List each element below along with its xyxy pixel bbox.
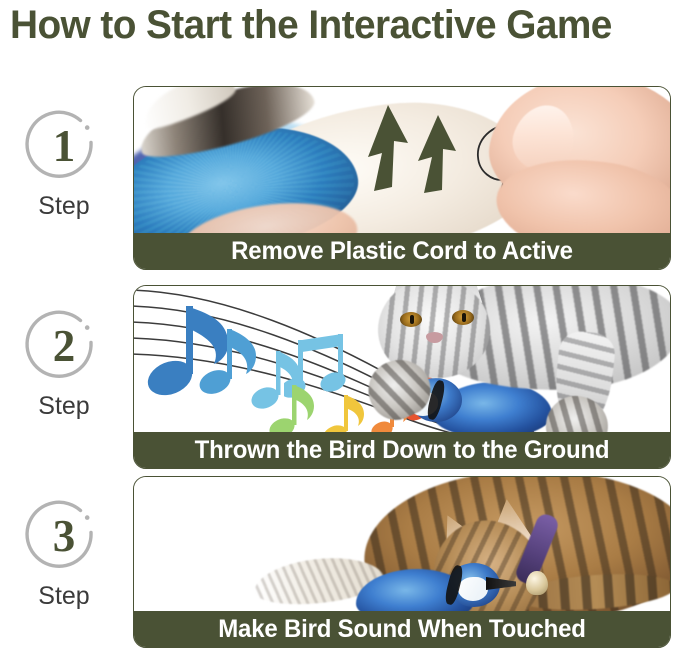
step-image-1: PULL — [134, 87, 670, 233]
cat-eye-right — [452, 310, 474, 325]
step-ring-3: 3 — [25, 498, 103, 576]
step-label-1: Step — [8, 192, 120, 221]
step-number-2: 2 — [25, 308, 103, 386]
step-badge-2: 2 Step — [8, 308, 120, 421]
cat-eye-left — [400, 312, 422, 327]
step-ring-1: 1 — [25, 108, 103, 186]
step-caption-text-1: Remove Plastic Cord to Active — [145, 233, 660, 269]
step-number-1: 1 — [25, 108, 103, 186]
infographic-page: How to Start the Interactive Game 1 Step — [0, 0, 679, 649]
step-number-3: 3 — [25, 498, 103, 576]
step-card-2: Thrown the Bird Down to the Ground — [133, 285, 671, 469]
step-caption-text-2: Thrown the Bird Down to the Ground — [145, 432, 660, 468]
step-ring-2: 2 — [25, 308, 103, 386]
step-image-3 — [134, 477, 670, 611]
jay-beak — [486, 577, 516, 590]
step-label-2: Step — [8, 392, 120, 421]
silver-tabby-cat — [360, 286, 670, 432]
step-card-1: PULL Remove Plastic Cord to Active — [133, 86, 671, 270]
step-caption-text-3: Make Bird Sound When Touched — [145, 611, 660, 647]
step-label-3: Step — [8, 582, 120, 611]
step-caption-2: Thrown the Bird Down to the Ground — [134, 432, 670, 468]
step-image-2 — [134, 286, 670, 432]
jay-face-patch — [458, 577, 488, 601]
arrow-up-icon — [352, 91, 482, 196]
step-badge-1: 1 Step — [8, 108, 120, 221]
step-caption-1: Remove Plastic Cord to Active — [134, 233, 670, 269]
page-title: How to Start the Interactive Game — [10, 2, 650, 48]
blue-jay-toy — [340, 561, 530, 611]
step-caption-3: Make Bird Sound When Touched — [134, 611, 670, 647]
step-badge-3: 3 Step — [8, 498, 120, 611]
step-card-3: Make Bird Sound When Touched — [133, 476, 671, 648]
